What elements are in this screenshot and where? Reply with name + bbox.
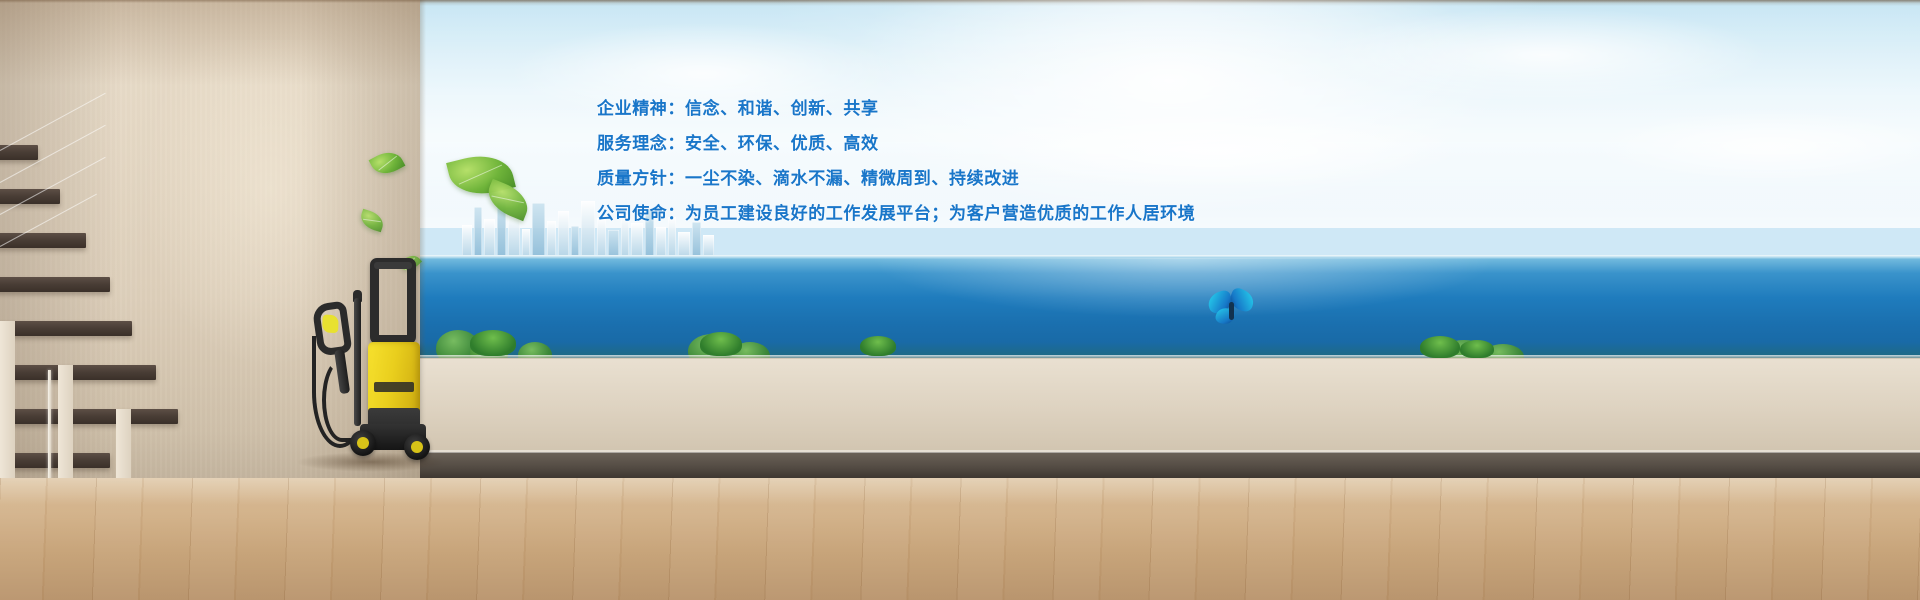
stair-step [0,233,86,248]
leaf-vein [378,156,397,171]
building [547,221,556,259]
building [581,201,595,259]
stair-step [0,321,132,336]
stair-support [0,321,15,481]
grass-tuft [700,332,742,356]
building [558,211,569,259]
stair-step [0,409,178,424]
stair-step [0,365,156,380]
building [484,219,495,259]
building [474,207,482,259]
butterfly [1208,290,1256,332]
skirting-highlight [398,450,1920,453]
washer-handle-grip [374,262,412,269]
stair-support [116,409,131,483]
grass-tuft [1420,336,1460,358]
banner-stage: 企业精神：信念、和谐、创新、共享 服务理念：安全、环保、优质、高效 质量方针：一… [0,0,1920,600]
mural-bottom-trim [398,355,1920,359]
slogan-line-3: 质量方针：一尘不染、滴水不漏、精微周到、持续改进 [597,162,1317,197]
butterfly-body [1229,302,1234,320]
building [462,225,472,259]
washer-handle [370,258,416,344]
skirting-board [398,452,1920,478]
stair-rail-post [48,370,51,480]
washer-wheel-hub [411,441,423,453]
grass-tuft [860,336,896,356]
washer-wheel [404,434,430,460]
wooden-floor [0,478,1920,600]
floor-shadow-left [0,0,420,122]
grass-tuft [1460,340,1494,358]
building [508,213,520,259]
sea-sparkle [869,258,1500,318]
slogan-line-2: 服务理念：安全、环保、优质、高效 [597,127,1317,162]
washer-wheel [350,430,376,456]
washer-trigger [322,315,339,334]
stair-step [0,453,110,468]
stair-step [0,277,110,292]
building [532,203,545,259]
slogan-line-4: 公司使命：为员工建设良好的工作发展平台；为客户营造优质的工作人居环境 [597,197,1317,232]
leaf-vein [492,196,525,204]
washer-label [374,382,414,392]
floor-reflection [780,0,1540,122]
washer-wheel-hub [357,437,369,449]
pressure-washer [312,258,430,463]
washer-hose-loop [322,358,362,442]
grass-tuft [470,330,516,356]
stair-support [58,365,73,483]
leaf-vein [363,219,381,223]
